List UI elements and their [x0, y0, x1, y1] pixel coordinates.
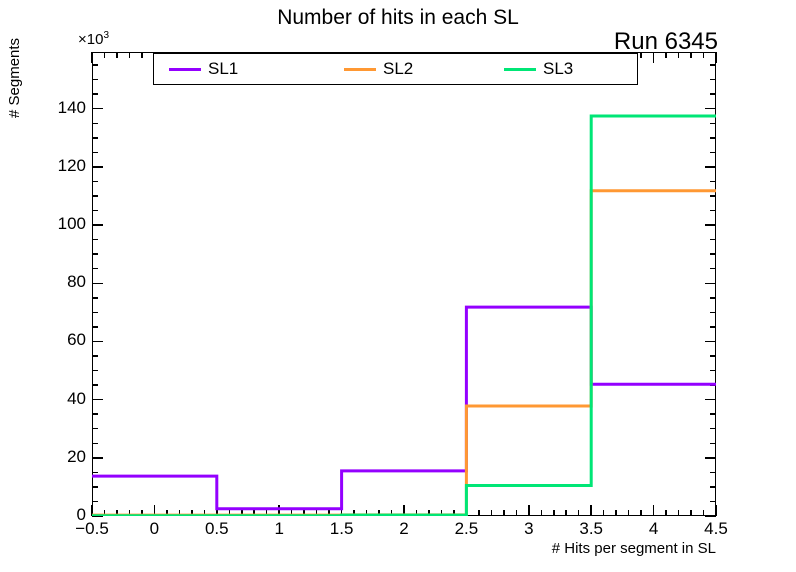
x-tick-label: −0.5	[57, 519, 127, 539]
x-tick-label: 2.5	[431, 519, 501, 539]
x-tick-label: 0	[119, 519, 189, 539]
legend-entry-sl2[interactable]: SL2	[344, 54, 413, 84]
histogram-series-sl3	[92, 116, 716, 516]
y-tick-label: 100	[26, 214, 86, 234]
x-tick-label: 2	[369, 519, 439, 539]
histogram-series-sl1	[92, 307, 716, 509]
histogram-series-sl2	[92, 191, 716, 515]
legend-entry-sl1[interactable]: SL1	[169, 54, 238, 84]
y-tick-label: 20	[26, 447, 86, 467]
legend-line-icon-sl3	[504, 68, 536, 71]
legend-line-icon-sl2	[344, 68, 376, 71]
legend-line-icon-sl1	[169, 68, 201, 71]
y-tick-label: 120	[26, 156, 86, 176]
y-tick-label: 140	[26, 98, 86, 118]
root-canvas: Number of hits in each SL Run 6345 ×103 …	[0, 0, 796, 572]
legend-entry-sl3[interactable]: SL3	[504, 54, 573, 84]
histogram-plot	[92, 52, 716, 516]
y-tick-label: 40	[26, 389, 86, 409]
legend-label: SL3	[543, 59, 573, 79]
y-tick-label: 80	[26, 272, 86, 292]
x-tick-label: 3.5	[556, 519, 626, 539]
legend-box: SL1SL2SL3	[153, 53, 638, 85]
x-tick-label: 3	[494, 519, 564, 539]
x-tick-label: 1.5	[307, 519, 377, 539]
x-tick-label: 0.5	[182, 519, 252, 539]
x-tick-label: 1	[244, 519, 314, 539]
x-tick-label: 4	[619, 519, 689, 539]
legend-label: SL2	[383, 59, 413, 79]
y-tick-label: 60	[26, 330, 86, 350]
x-tick-label: 4.5	[681, 519, 751, 539]
legend-label: SL1	[208, 59, 238, 79]
